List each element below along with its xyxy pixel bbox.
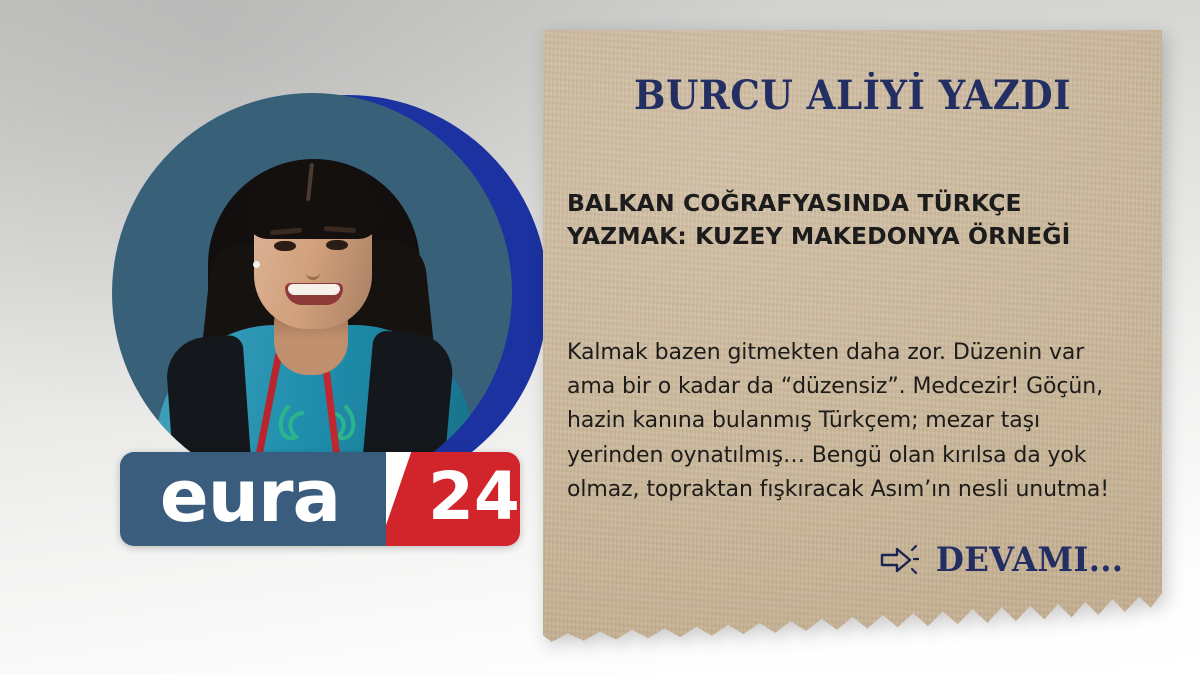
logo-right-panel: 24: [426, 452, 520, 546]
page-title: BURCU ALİYİ YAZDI: [565, 72, 1141, 119]
nose-shape: [306, 251, 320, 280]
author-portrait: [112, 93, 512, 493]
arrow-click-icon: [879, 544, 919, 576]
article-paper-card: BURCU ALİYİ YAZDI BALKAN COĞRAFYASINDA T…: [543, 30, 1162, 642]
paper-content: BURCU ALİYİ YAZDI BALKAN COĞRAFYASINDA T…: [543, 30, 1162, 642]
logo-wordmark: eura: [160, 460, 346, 538]
logo-left-panel: eura: [120, 452, 386, 546]
article-subtitle: BALKAN COĞRAFYASINDA TÜRKÇE YAZMAK: KUZE…: [567, 187, 1122, 253]
eura24-logo[interactable]: eura 24: [120, 452, 492, 546]
article-body: Kalmak bazen gitmekten daha zor. Düzenin…: [567, 336, 1126, 507]
mouth-shape: [285, 283, 343, 305]
teeth-shape: [288, 284, 340, 295]
earring-icon: [253, 261, 260, 268]
eye-right: [326, 240, 348, 250]
read-more-label: DEVAMI...: [936, 540, 1123, 580]
logo-number: 24: [428, 464, 520, 534]
portrait-block: eura 24: [0, 0, 540, 675]
promo-card: eura 24 BURCU ALİYİ YAZDI BALKAN COĞRAFY…: [0, 0, 1200, 675]
read-more-cta[interactable]: DEVAMI...: [879, 540, 1128, 580]
slash-divider-icon: [386, 452, 426, 546]
eye-left: [274, 241, 296, 251]
